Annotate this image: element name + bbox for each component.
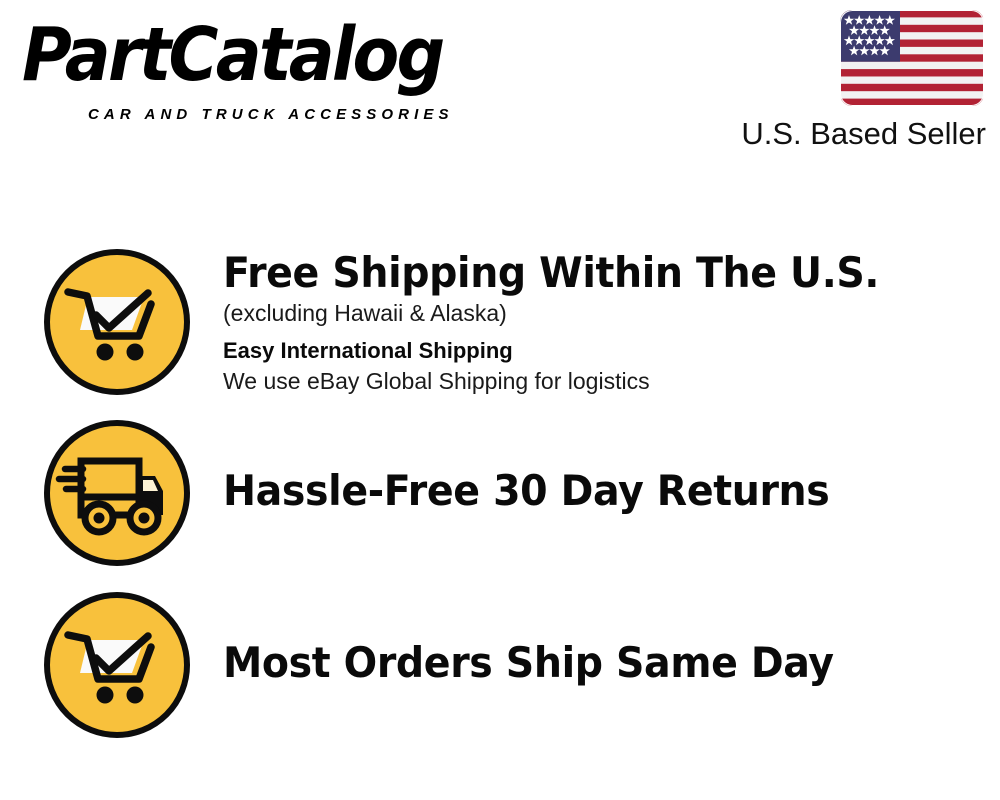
us-flag-icon bbox=[840, 10, 984, 106]
brand-wordmark: PartCatalog bbox=[22, 18, 442, 92]
feature-subline: (excluding Hawaii & Alaska) bbox=[223, 298, 983, 328]
feature-subheading-detail: We use eBay Global Shipping for logistic… bbox=[223, 366, 983, 396]
feature-text-block: Most Orders Ship Same Day bbox=[223, 638, 983, 688]
brand-logo[interactable]: PartCatalog CAR AND TRUCK ACCESSORIES bbox=[22, 18, 502, 114]
feature-headline: Hassle-Free 30 Day Returns bbox=[223, 466, 937, 516]
feature-text-block: Hassle-Free 30 Day Returns bbox=[223, 466, 983, 516]
feature-headline: Free Shipping Within The U.S. bbox=[223, 248, 937, 298]
feature-headline: Most Orders Ship Same Day bbox=[223, 638, 937, 688]
shipping-info-banner: { "brand": { "wordmark": "PartCatalog", … bbox=[0, 0, 1000, 800]
us-based-seller-label: U.S. Based Seller bbox=[741, 117, 986, 151]
shopping-cart-check-icon bbox=[43, 248, 191, 396]
spacer bbox=[223, 328, 983, 336]
feature-text-block: Free Shipping Within The U.S. (excluding… bbox=[223, 248, 983, 396]
delivery-truck-icon bbox=[43, 419, 191, 567]
shopping-cart-check-icon bbox=[43, 591, 191, 739]
feature-subheading: Easy International Shipping bbox=[223, 336, 983, 366]
brand-tagline: CAR AND TRUCK ACCESSORIES bbox=[88, 106, 454, 124]
